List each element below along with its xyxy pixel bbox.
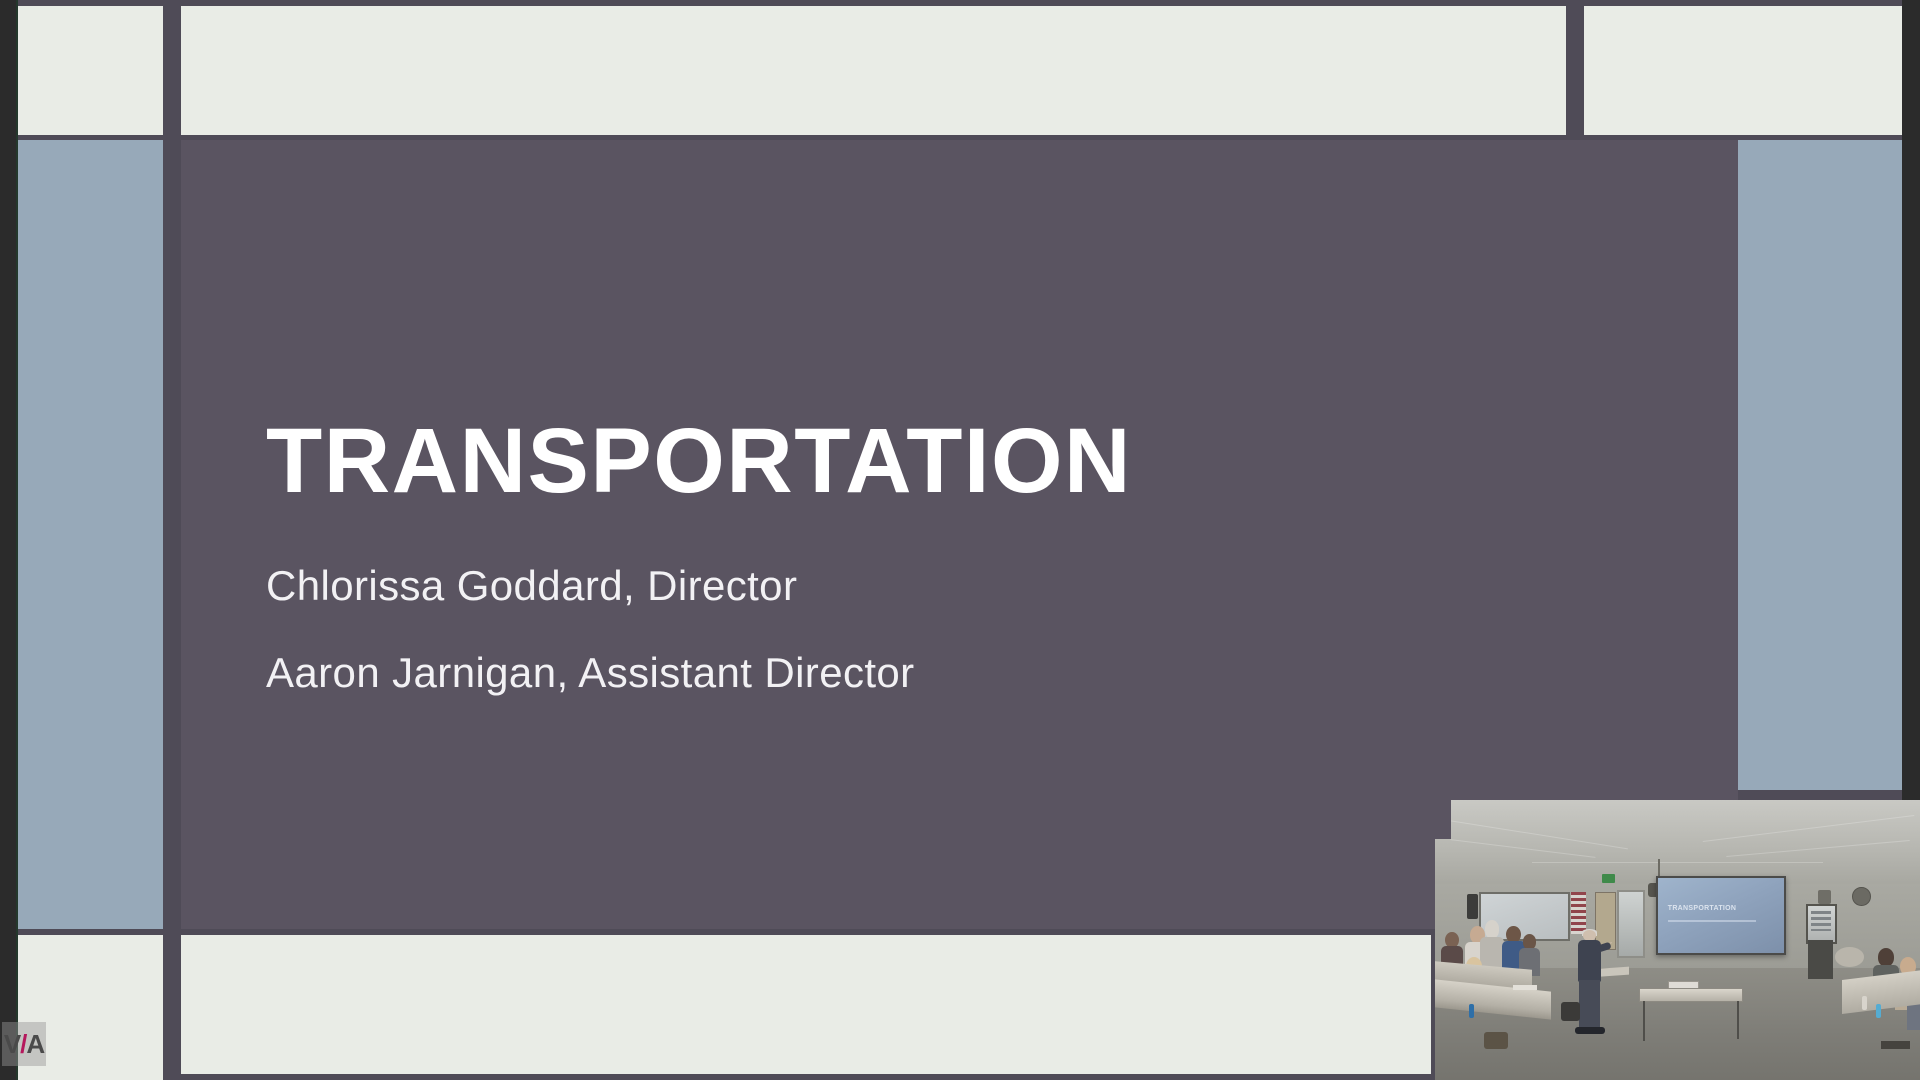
bag: [1561, 1002, 1580, 1022]
slide-title: TRANSPORTATION: [266, 415, 1566, 507]
decorative-panel-top-center: [181, 6, 1566, 135]
decorative-panel-top-left: [18, 6, 163, 135]
bag: [1484, 1032, 1508, 1049]
via-watermark-logo: V/A: [2, 1022, 46, 1066]
via-letter-a: A: [26, 1029, 44, 1059]
slide-subtitle-presenter-1: Chlorissa Goddard, Director: [266, 565, 1566, 607]
water-bottle: [1876, 1004, 1881, 1018]
table-leg: [1737, 1001, 1739, 1039]
presenter-legs: [1579, 980, 1599, 1029]
projection-screen: TRANSPORTATION: [1656, 876, 1786, 956]
accent-bar-left: [18, 140, 163, 929]
person-head: [1878, 948, 1894, 966]
rack-unit: [1811, 929, 1831, 932]
wall-speaker-right-icon: [1818, 890, 1831, 904]
accent-bar-right: [1738, 140, 1902, 790]
av-equipment-rack: [1806, 904, 1837, 944]
rack-unit: [1811, 923, 1831, 926]
via-letter-v: V: [4, 1029, 20, 1059]
decorative-panel-top-right: [1584, 6, 1902, 135]
wall-clock-icon: [1852, 887, 1870, 906]
person-head: [1485, 920, 1500, 938]
water-bottle: [1469, 1004, 1474, 1018]
via-watermark-text: V/A: [4, 1031, 44, 1057]
decorative-panel-bottom-center: [181, 935, 1431, 1074]
exit-sign: [1602, 874, 1615, 882]
ceiling-grid-line: [1532, 862, 1823, 863]
round-side-table: [1835, 947, 1864, 967]
equipment-case: [1881, 1041, 1910, 1049]
wall-speaker-left-icon: [1467, 894, 1479, 919]
presenter-shoes: [1575, 1027, 1605, 1034]
projected-slide-subtitle-bar: [1668, 920, 1756, 922]
rack-unit: [1811, 911, 1831, 914]
podium: [1808, 940, 1832, 979]
projected-slide-title: TRANSPORTATION: [1668, 905, 1737, 912]
glass-door: [1617, 890, 1645, 958]
conference-room-scene: TRANSPORTATION: [1435, 800, 1920, 1080]
pip-corner-notch: [1435, 800, 1451, 839]
water-bottle: [1862, 996, 1867, 1010]
rack-unit: [1811, 917, 1831, 920]
table-leg: [1643, 1001, 1645, 1041]
slide-text-block: TRANSPORTATION Chlorissa Goddard, Direct…: [266, 415, 1566, 739]
flag: [1571, 892, 1587, 934]
slide-subtitle-presenter-2: Aaron Jarnigan, Assistant Director: [266, 652, 1566, 694]
presenter-table: [1639, 988, 1743, 1003]
papers: [1513, 985, 1537, 991]
picture-in-picture-camera-feed[interactable]: TRANSPORTATION: [1435, 800, 1920, 1080]
video-stream-frame: TRANSPORTATION Chlorissa Goddard, Direct…: [0, 0, 1920, 1080]
